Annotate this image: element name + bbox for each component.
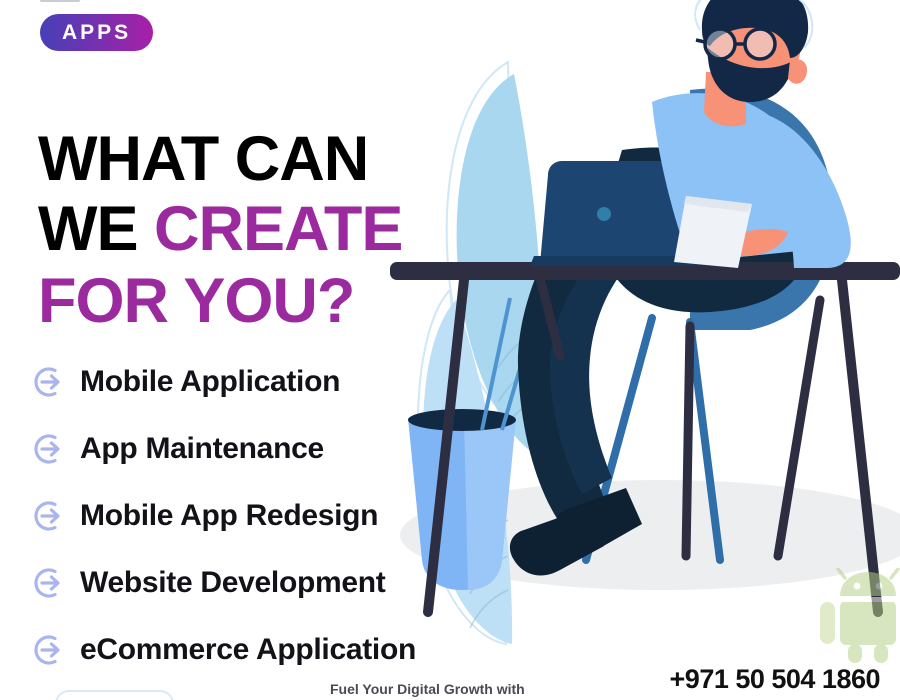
list-item: App Maintenance (32, 415, 502, 482)
page-title: WHAT CAN WE CREATE FOR YOU? (38, 130, 468, 332)
arrow-into-circle-icon (32, 633, 66, 667)
service-label: Website Development (80, 566, 386, 600)
arrow-into-circle-icon (32, 566, 66, 600)
list-item: Mobile App Redesign (32, 482, 502, 549)
arrow-into-circle-icon (32, 499, 66, 533)
list-item: Mobile Application (32, 348, 502, 415)
android-robot-icon (818, 568, 900, 663)
footer-tagline: Fuel Your Digital Growth with (330, 681, 525, 697)
headline-line-2: WE CREATE (38, 200, 468, 260)
list-item: Website Development (32, 549, 502, 616)
headline-line-2-accent: CREATE (154, 194, 402, 264)
contact-phone: +971 50 504 1860 (670, 664, 880, 695)
arrow-into-circle-icon (32, 432, 66, 466)
list-item: eCommerce Application (32, 616, 502, 683)
headline-line-1: WHAT CAN (38, 130, 468, 190)
service-label: Mobile Application (80, 365, 340, 399)
poster-canvas: APPS WHAT CAN WE CREATE FOR YOU? Mobile … (0, 0, 900, 700)
cropped-logo-fragment (40, 0, 80, 2)
arrow-into-circle-icon (32, 365, 66, 399)
service-label: Mobile App Redesign (80, 499, 378, 533)
headline-line-3: FOR YOU? (38, 272, 468, 332)
apps-badge: APPS (40, 14, 153, 51)
service-label: App Maintenance (80, 432, 324, 466)
bottom-left-decor-shape (55, 690, 174, 700)
services-list: Mobile Application App Maintenance Mob (32, 348, 502, 683)
headline-line-2-black: WE (38, 194, 154, 264)
service-label: eCommerce Application (80, 633, 416, 667)
